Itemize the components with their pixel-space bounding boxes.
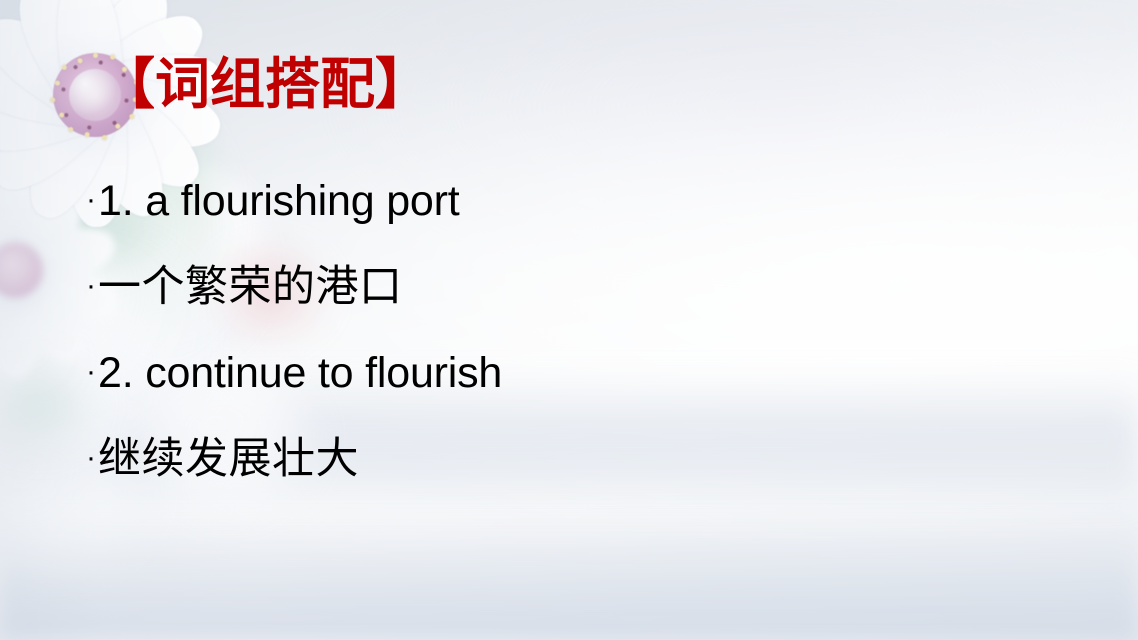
list-item: · 1. a flourishing port <box>86 180 986 266</box>
list-item-label: 1. a flourishing port <box>98 180 460 223</box>
bullet-marker: · <box>86 443 96 473</box>
list-item: · 一个繁荣的港口 <box>86 266 986 352</box>
bullet-list: · 1. a flourishing port · 一个繁荣的港口 · 2. c… <box>86 180 986 524</box>
presentation-slide: 【词组搭配】 · 1. a flourishing port · 一个繁荣的港口… <box>0 0 1138 640</box>
bullet-marker: · <box>86 357 96 387</box>
list-item-label: 2. continue to flourish <box>98 352 502 395</box>
bullet-marker: · <box>86 271 96 301</box>
list-item: · 2. continue to flourish <box>86 352 986 438</box>
slide-title: 【词组搭配】 <box>100 56 430 112</box>
list-item-label: 继续发展壮大 <box>98 438 359 481</box>
bullet-marker: · <box>86 185 96 215</box>
list-item: · 继续发展壮大 <box>86 438 986 524</box>
slide-content: 【词组搭配】 · 1. a flourishing port · 一个繁荣的港口… <box>0 0 1138 640</box>
list-item-label: 一个繁荣的港口 <box>98 266 403 309</box>
